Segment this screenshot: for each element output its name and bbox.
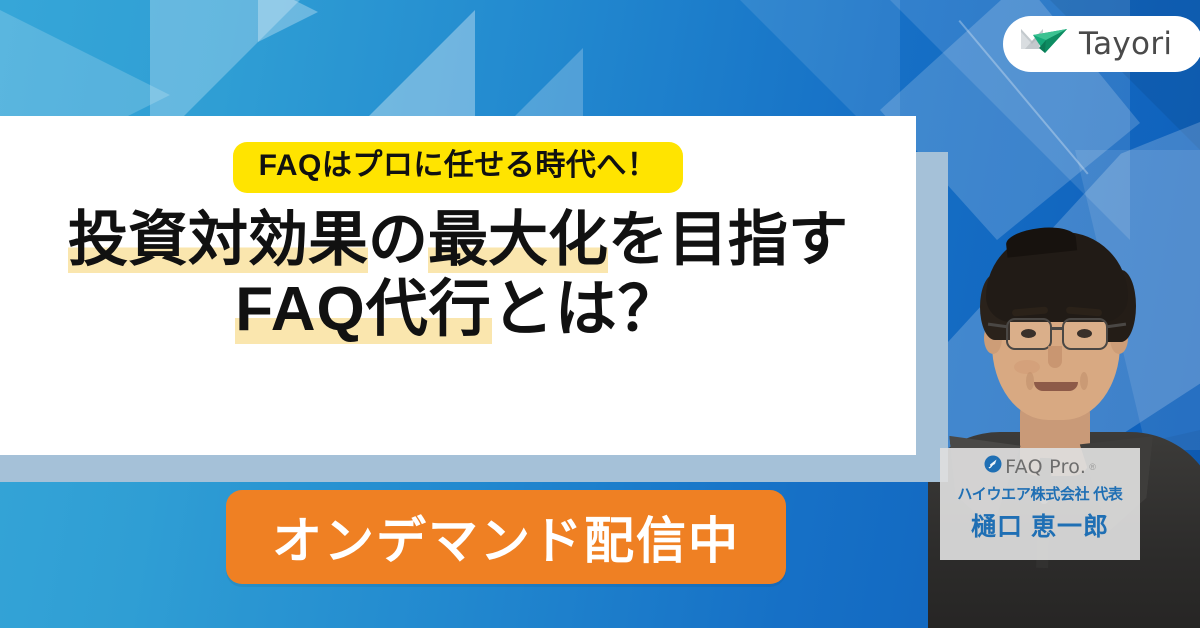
faq-pro-logo: FAQ Pro. ® xyxy=(984,455,1096,478)
page-title: 投資対効果の最大化を目指す FAQ代行とは？ xyxy=(68,205,848,345)
registered-trademark-icon: ® xyxy=(1089,462,1096,472)
portrait-cheek xyxy=(1014,360,1040,374)
headline-l1-part-1: 投資対効果 xyxy=(68,206,368,273)
headline-l1-part-3: 最大化 xyxy=(428,206,608,273)
on-demand-cta-button[interactable]: オンデマンド配信中 xyxy=(226,490,786,584)
speaker-name: 樋口 恵一郎 xyxy=(971,507,1109,543)
speaker-company-role: ハイウエア株式会社 代表 xyxy=(957,483,1122,504)
headline-line-2: FAQ代行とは？ xyxy=(68,274,848,345)
portrait-smile-left xyxy=(1026,372,1034,390)
headline-l2-part-1: FAQ代行 xyxy=(235,275,491,344)
portrait-nose xyxy=(1048,346,1062,368)
portrait-mouth xyxy=(1034,382,1078,391)
faq-pro-wordmark: FAQ Pro. xyxy=(1005,456,1086,478)
paper-plane-envelope-icon xyxy=(1019,23,1069,66)
tayori-logo[interactable]: Tayori xyxy=(1003,16,1200,72)
tayori-wordmark: Tayori xyxy=(1079,26,1172,62)
glasses-bridge-icon xyxy=(1052,327,1062,330)
speaker-portrait xyxy=(928,196,1200,628)
webinar-banner: FAQはプロに任せる時代へ！ 投資対効果の最大化を目指す FAQ代行とは？ オン… xyxy=(0,0,1200,628)
portrait-smile-right xyxy=(1080,372,1088,390)
glasses-lens-left-icon xyxy=(1006,318,1052,350)
headline-line-1: 投資対効果の最大化を目指す xyxy=(68,205,848,274)
headline-l1-part-2: の xyxy=(368,206,428,273)
headline-l1-part-4: を目指す xyxy=(608,206,848,273)
headline-l2-part-2: とは？ xyxy=(492,275,681,344)
speaker-nameplate: FAQ Pro. ® ハイウエア株式会社 代表 樋口 恵一郎 xyxy=(940,448,1140,560)
bg-arrow-small-left xyxy=(258,0,318,42)
faq-pro-circle-icon xyxy=(984,455,1002,478)
eyebrow-badge: FAQはプロに任せる時代へ！ xyxy=(233,142,684,193)
glasses-lens-right-icon xyxy=(1062,318,1108,350)
headline-card: FAQはプロに任せる時代へ！ 投資対効果の最大化を目指す FAQ代行とは？ xyxy=(0,116,916,455)
